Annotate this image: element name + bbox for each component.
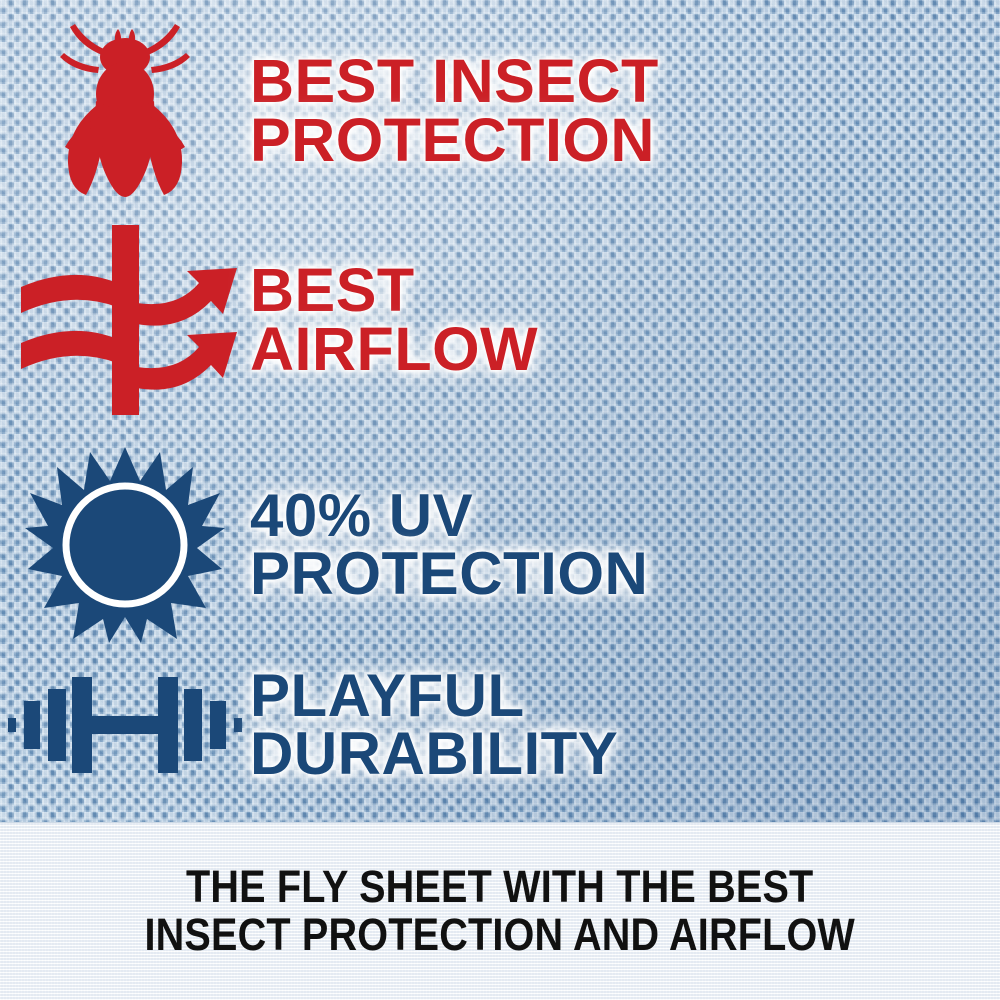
text-cell-insect: BEST INSECT PROTECTION: [250, 52, 1000, 169]
feature-label-insect-protection: BEST INSECT PROTECTION: [250, 52, 1000, 169]
icon-cell-uv: [0, 445, 250, 645]
fly-icon: [50, 21, 200, 201]
airflow-arrows-icon: [15, 225, 235, 415]
feature-row-uv-protection: 40% UV PROTECTION: [0, 445, 1000, 645]
icon-cell-durability: [0, 665, 250, 785]
feature-row-durability: PLAYFUL DURABILITY: [0, 655, 1000, 795]
feature-row-airflow: BEST AIRFLOW: [0, 225, 1000, 415]
dumbbell-icon: [0, 665, 250, 785]
feature-label-airflow: BEST AIRFLOW: [250, 261, 1000, 378]
caption-text: THE FLY SHEET WITH THE BEST INSECT PROTE…: [145, 863, 856, 958]
icon-cell-insect: [0, 21, 250, 201]
text-cell-airflow: BEST AIRFLOW: [250, 261, 1000, 378]
feature-label-durability: PLAYFUL DURABILITY: [250, 667, 1000, 782]
text-cell-uv: 40% UV PROTECTION: [250, 487, 1000, 602]
sun-icon: [25, 445, 225, 645]
product-feature-infographic: BEST INSECT PROTECTION: [0, 0, 1000, 1000]
caption-bar: THE FLY SHEET WITH THE BEST INSECT PROTE…: [0, 822, 1000, 1000]
text-cell-durability: PLAYFUL DURABILITY: [250, 667, 1000, 782]
feature-row-insect-protection: BEST INSECT PROTECTION: [0, 18, 1000, 204]
icon-cell-airflow: [0, 225, 250, 415]
feature-label-uv-protection: 40% UV PROTECTION: [250, 487, 1000, 602]
